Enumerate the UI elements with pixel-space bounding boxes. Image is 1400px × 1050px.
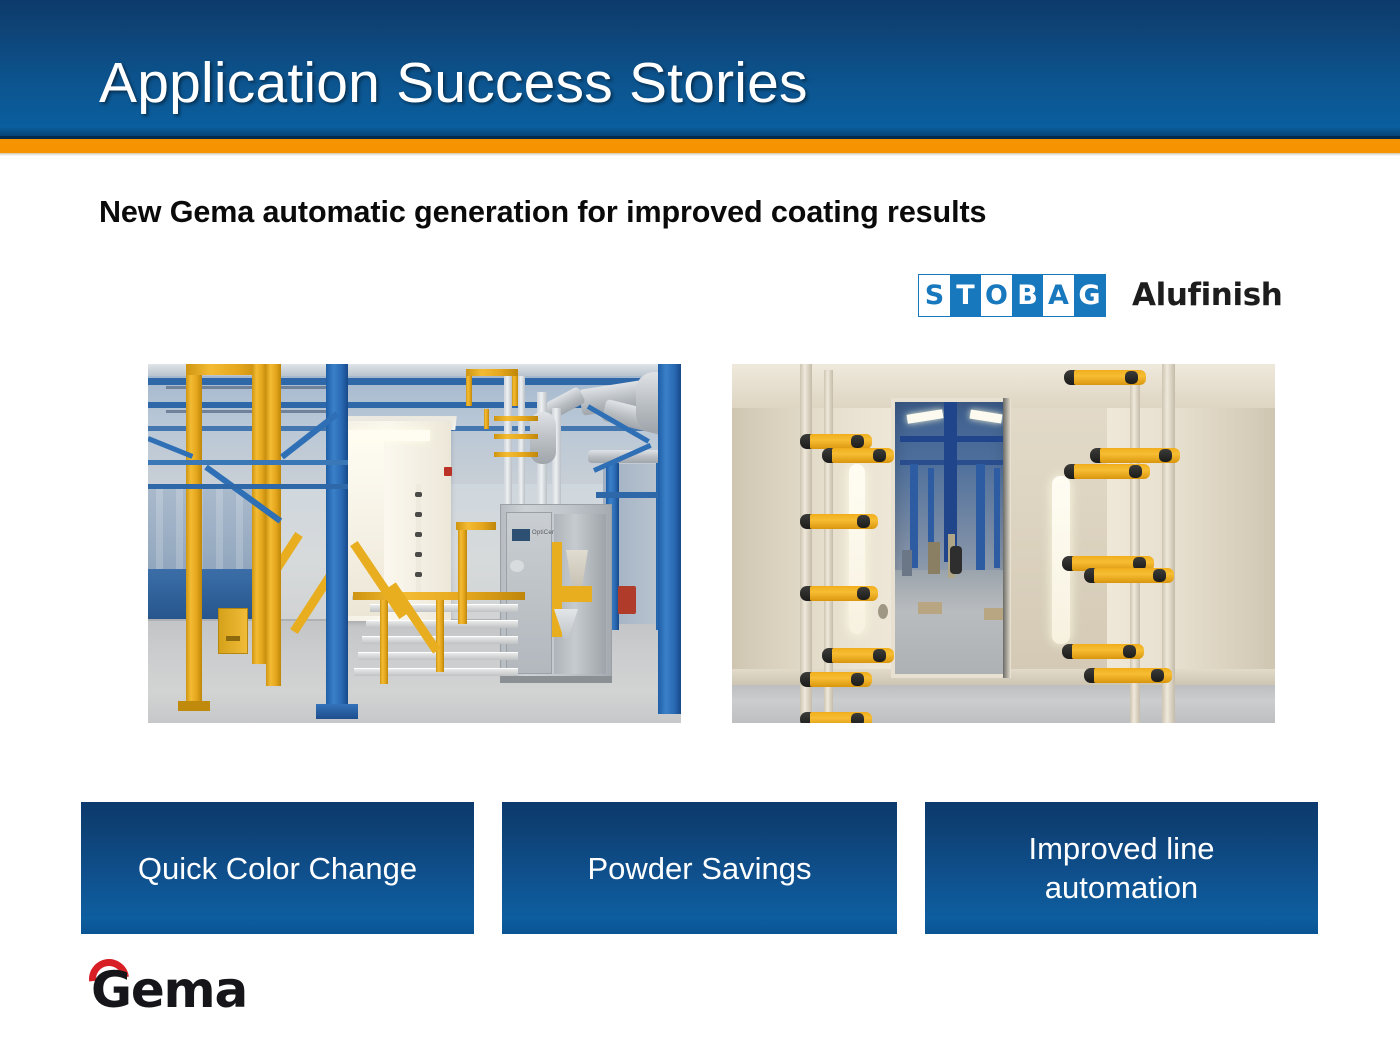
benefit-powder-savings[interactable]: Powder Savings (502, 802, 897, 934)
header-accent-shadow (0, 153, 1400, 156)
stobag-letter-b: B (1012, 275, 1043, 316)
stobag-logo: S T O B A G (918, 274, 1106, 317)
photo-powder-coating-plant: OptiCenter (148, 364, 681, 723)
alufinish-wordmark: Alufinish (1132, 277, 1282, 313)
benefit-quick-color-change[interactable]: Quick Color Change (81, 802, 474, 934)
photo-coating-booth-interior (732, 364, 1275, 723)
gema-logo: Gema (83, 962, 273, 1020)
slide-subtitle: New Gema automatic generation for improv… (99, 193, 1309, 231)
gema-wordmark: Gema (91, 962, 247, 1018)
stobag-letter-a: A (1043, 275, 1074, 316)
page-title: Application Success Stories (99, 52, 808, 114)
stobag-letter-o: O (981, 275, 1012, 316)
benefit-improved-line-automation[interactable]: Improved line automation (925, 802, 1318, 934)
customer-logo: S T O B A G Alufinish (918, 272, 1282, 318)
stobag-letter-s: S (919, 275, 950, 316)
stobag-letter-g: G (1074, 275, 1105, 316)
header-orange-accent-bar (0, 139, 1400, 153)
stobag-letter-t: T (950, 275, 981, 316)
